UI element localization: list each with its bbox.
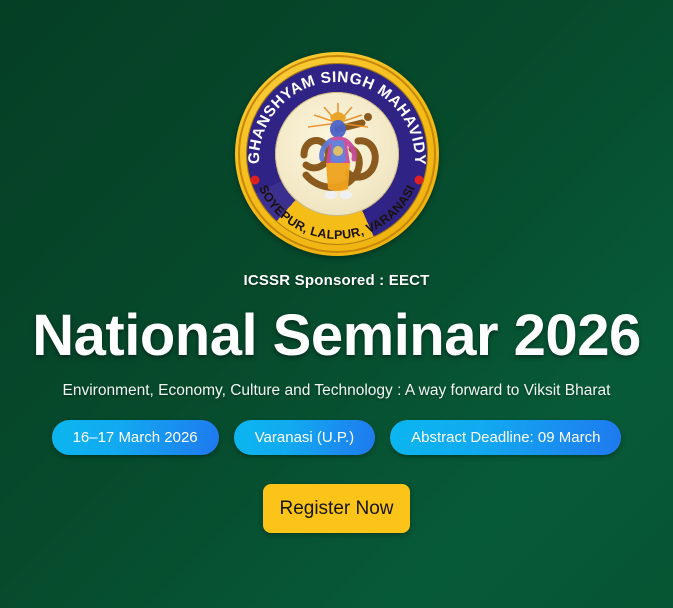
badge-abstract-deadline: Abstract Deadline: 09 March [390,420,621,455]
page-title: National Seminar 2026 [32,307,640,365]
seal-center-medallion [275,92,399,216]
seminar-subtitle: Environment, Economy, Culture and Techno… [63,382,611,400]
college-seal-logo: DR. GHANSHYAM SINGH MAHAVIDYALA SOYEPUR,… [235,52,439,256]
register-now-button[interactable]: Register Now [263,484,410,533]
sponsor-line: ICSSR Sponsored : EECT [243,272,429,289]
info-badge-row: 16–17 March 2026 Varanasi (U.P.) Abstrac… [52,420,622,455]
badge-dates: 16–17 March 2026 [52,420,219,455]
badge-location: Varanasi (U.P.) [234,420,376,455]
krishna-figure-icon [276,93,399,216]
